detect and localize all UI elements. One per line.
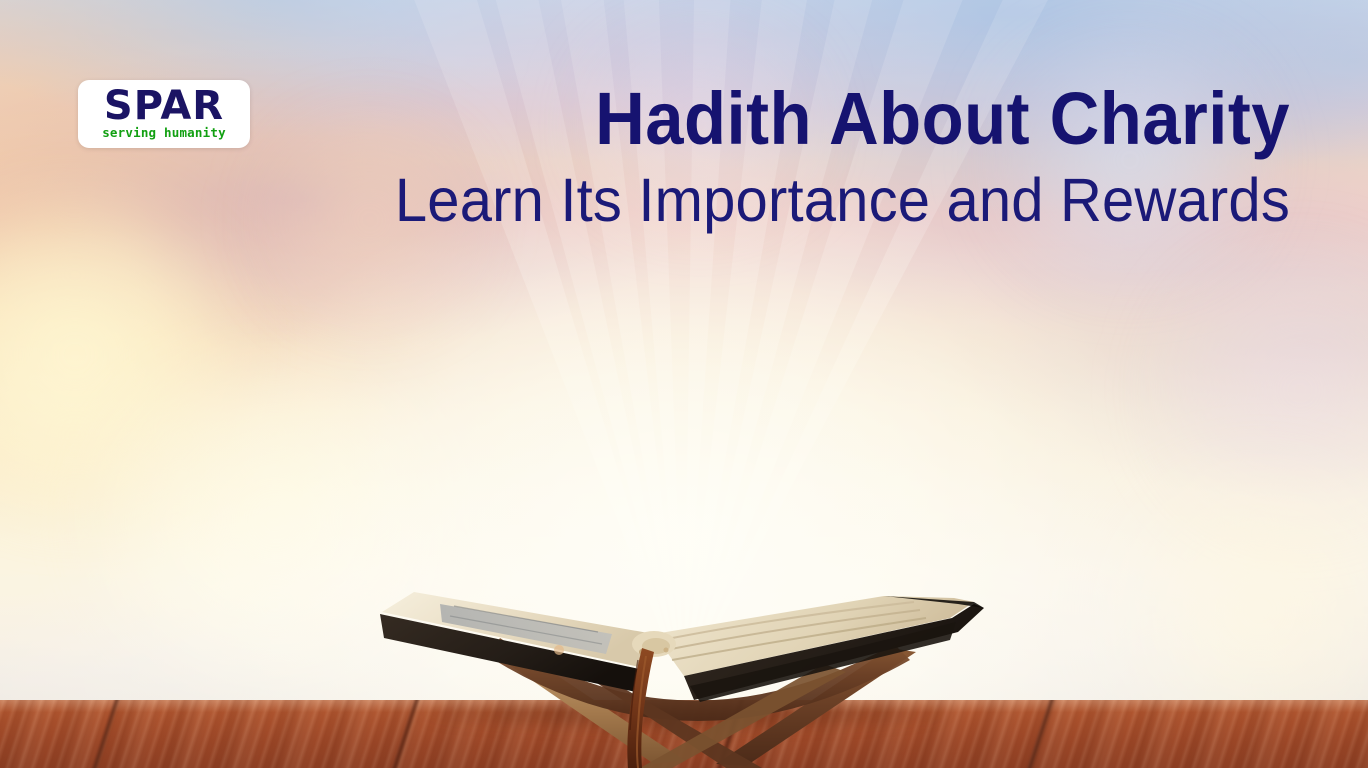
- page-subtitle: Learn Its Importance and Rewards: [65, 170, 1291, 231]
- heading-block: Hadith About Charity Learn Its Importanc…: [0, 82, 1290, 231]
- page-title: Hadith About Charity: [90, 82, 1290, 156]
- book-spine-stud: [664, 648, 669, 653]
- banner-image: SPAR serving humanity Hadith About Chari…: [0, 0, 1368, 768]
- quran-on-rehal-stand: [354, 560, 1014, 768]
- book-page-mark: [554, 645, 564, 655]
